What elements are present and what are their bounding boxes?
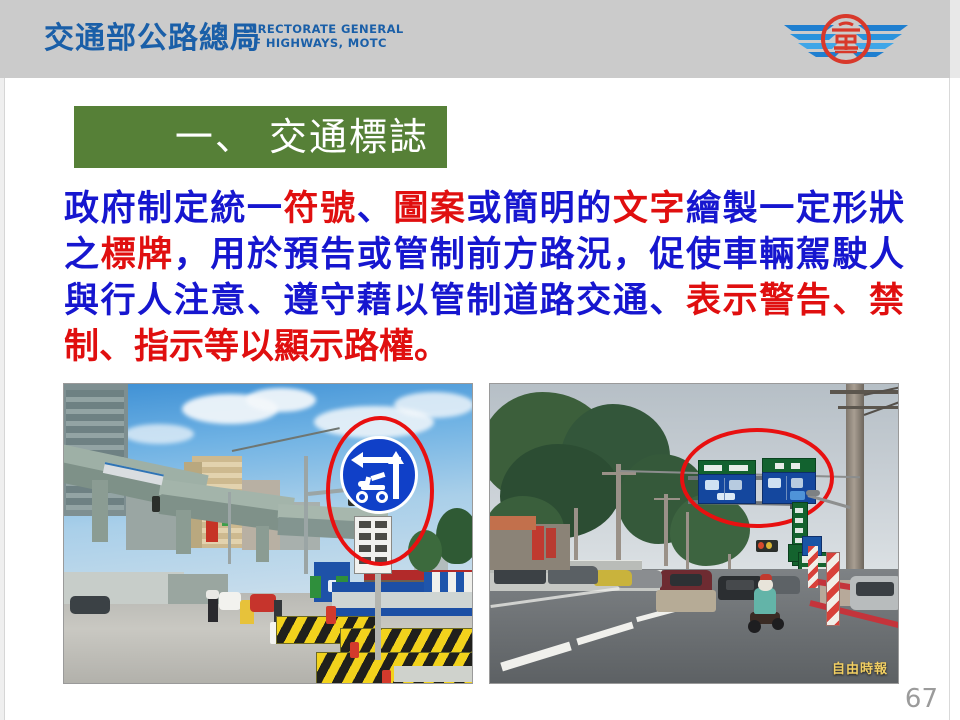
- photo-watermark: 自由時報: [832, 658, 888, 677]
- body-run-0: 政府制定統一: [64, 189, 284, 229]
- slide-right-border: [949, 78, 960, 720]
- person: [310, 576, 321, 598]
- car-window: [856, 582, 894, 596]
- highway-pier: [92, 480, 108, 542]
- body-run-7: 標牌: [101, 235, 174, 275]
- body-run-3: 圖案: [393, 189, 466, 229]
- section-title-box: 一、 交通標誌: [74, 106, 447, 168]
- body-run-5: 文字: [613, 189, 686, 229]
- scooter: [219, 592, 241, 610]
- photo-left-scene: [64, 384, 472, 683]
- header-right-edge: [950, 0, 960, 78]
- traffic-signal-head: [152, 496, 160, 512]
- highway-pier: [256, 526, 269, 562]
- red-ellipse-highlighting-blue-regulatory-sign: [326, 416, 434, 566]
- barrier-fence: [332, 592, 472, 608]
- shop-banner: [532, 526, 544, 560]
- body-run-2: 、: [357, 189, 394, 229]
- slide-header: 交通部公路總局 DIRECTORATE GENERAL OF HIGHWAYS,…: [0, 0, 950, 78]
- org-name-chinese: 交通部公路總局: [44, 19, 261, 59]
- utility-pole: [664, 494, 668, 566]
- body-run-1: 符號: [284, 189, 357, 229]
- slide-left-border: [0, 78, 5, 720]
- motorcycle-wheel: [748, 620, 761, 633]
- photo-highway-overhead-direction-signs: 自由時報: [489, 383, 899, 684]
- red-car: [250, 594, 276, 612]
- roof: [490, 516, 536, 530]
- body-paragraph: 政府制定統一符號、圖案或簡明的文字繪製一定形狀之標牌，用於預告或管制前方路況，促…: [64, 186, 904, 370]
- street-light-head: [806, 490, 820, 496]
- car-maroon-lower: [656, 590, 716, 612]
- dgh-motc-winged-seal-logo: [782, 8, 910, 70]
- motorcycle-wheel: [772, 618, 784, 630]
- concrete-block: [394, 666, 472, 682]
- section-title-text: 一、 交通標誌: [74, 106, 447, 168]
- signal-red-lamp: [758, 542, 764, 549]
- org-name-english-line1: DIRECTORATE GENERAL: [243, 22, 404, 36]
- barrier-fence-rail: [332, 608, 472, 616]
- cloud: [124, 424, 194, 444]
- striped-delineator-post: [826, 552, 840, 626]
- rider-body: [754, 588, 776, 614]
- taxi-yellow: [594, 570, 632, 586]
- roadside-building: [490, 524, 570, 570]
- highway-pier: [176, 510, 191, 554]
- car-window: [670, 574, 702, 586]
- utility-crossarm: [654, 498, 680, 500]
- signal-mast-pole: [304, 456, 308, 574]
- utility-pole: [228, 492, 231, 564]
- helmet-top: [760, 574, 772, 580]
- photo-urban-intersection-motorcycle-sign: [63, 383, 473, 684]
- utility-crossarm: [602, 472, 636, 475]
- pedestrian: [208, 596, 218, 622]
- parked-car: [70, 596, 110, 614]
- photo-right-scene: 自由時報: [490, 384, 898, 683]
- utility-pole: [616, 464, 621, 568]
- page-number: 67: [905, 684, 938, 714]
- signal-amber-lamp: [766, 542, 772, 549]
- cloud: [394, 392, 472, 418]
- org-name-english-line2: OF HIGHWAYS, MOTC: [243, 36, 404, 50]
- car-window: [726, 580, 754, 590]
- warning-light: [326, 606, 336, 624]
- cloud: [246, 388, 316, 412]
- pedestrian-head: [206, 590, 219, 599]
- striped-guard: [424, 572, 472, 592]
- slide-root: 交通部公路總局 DIRECTORATE GENERAL OF HIGHWAYS,…: [0, 0, 960, 720]
- red-ellipse-highlighting-overhead-gantry-signs: [680, 428, 834, 528]
- shop-banner: [546, 528, 556, 558]
- warning-light: [350, 642, 359, 658]
- org-name-english: DIRECTORATE GENERAL OF HIGHWAYS, MOTC: [243, 22, 404, 50]
- striped-delineator-post: [808, 546, 818, 588]
- warning-light: [382, 670, 391, 683]
- utility-pole: [686, 512, 689, 570]
- body-run-4: 或簡明的: [467, 189, 613, 229]
